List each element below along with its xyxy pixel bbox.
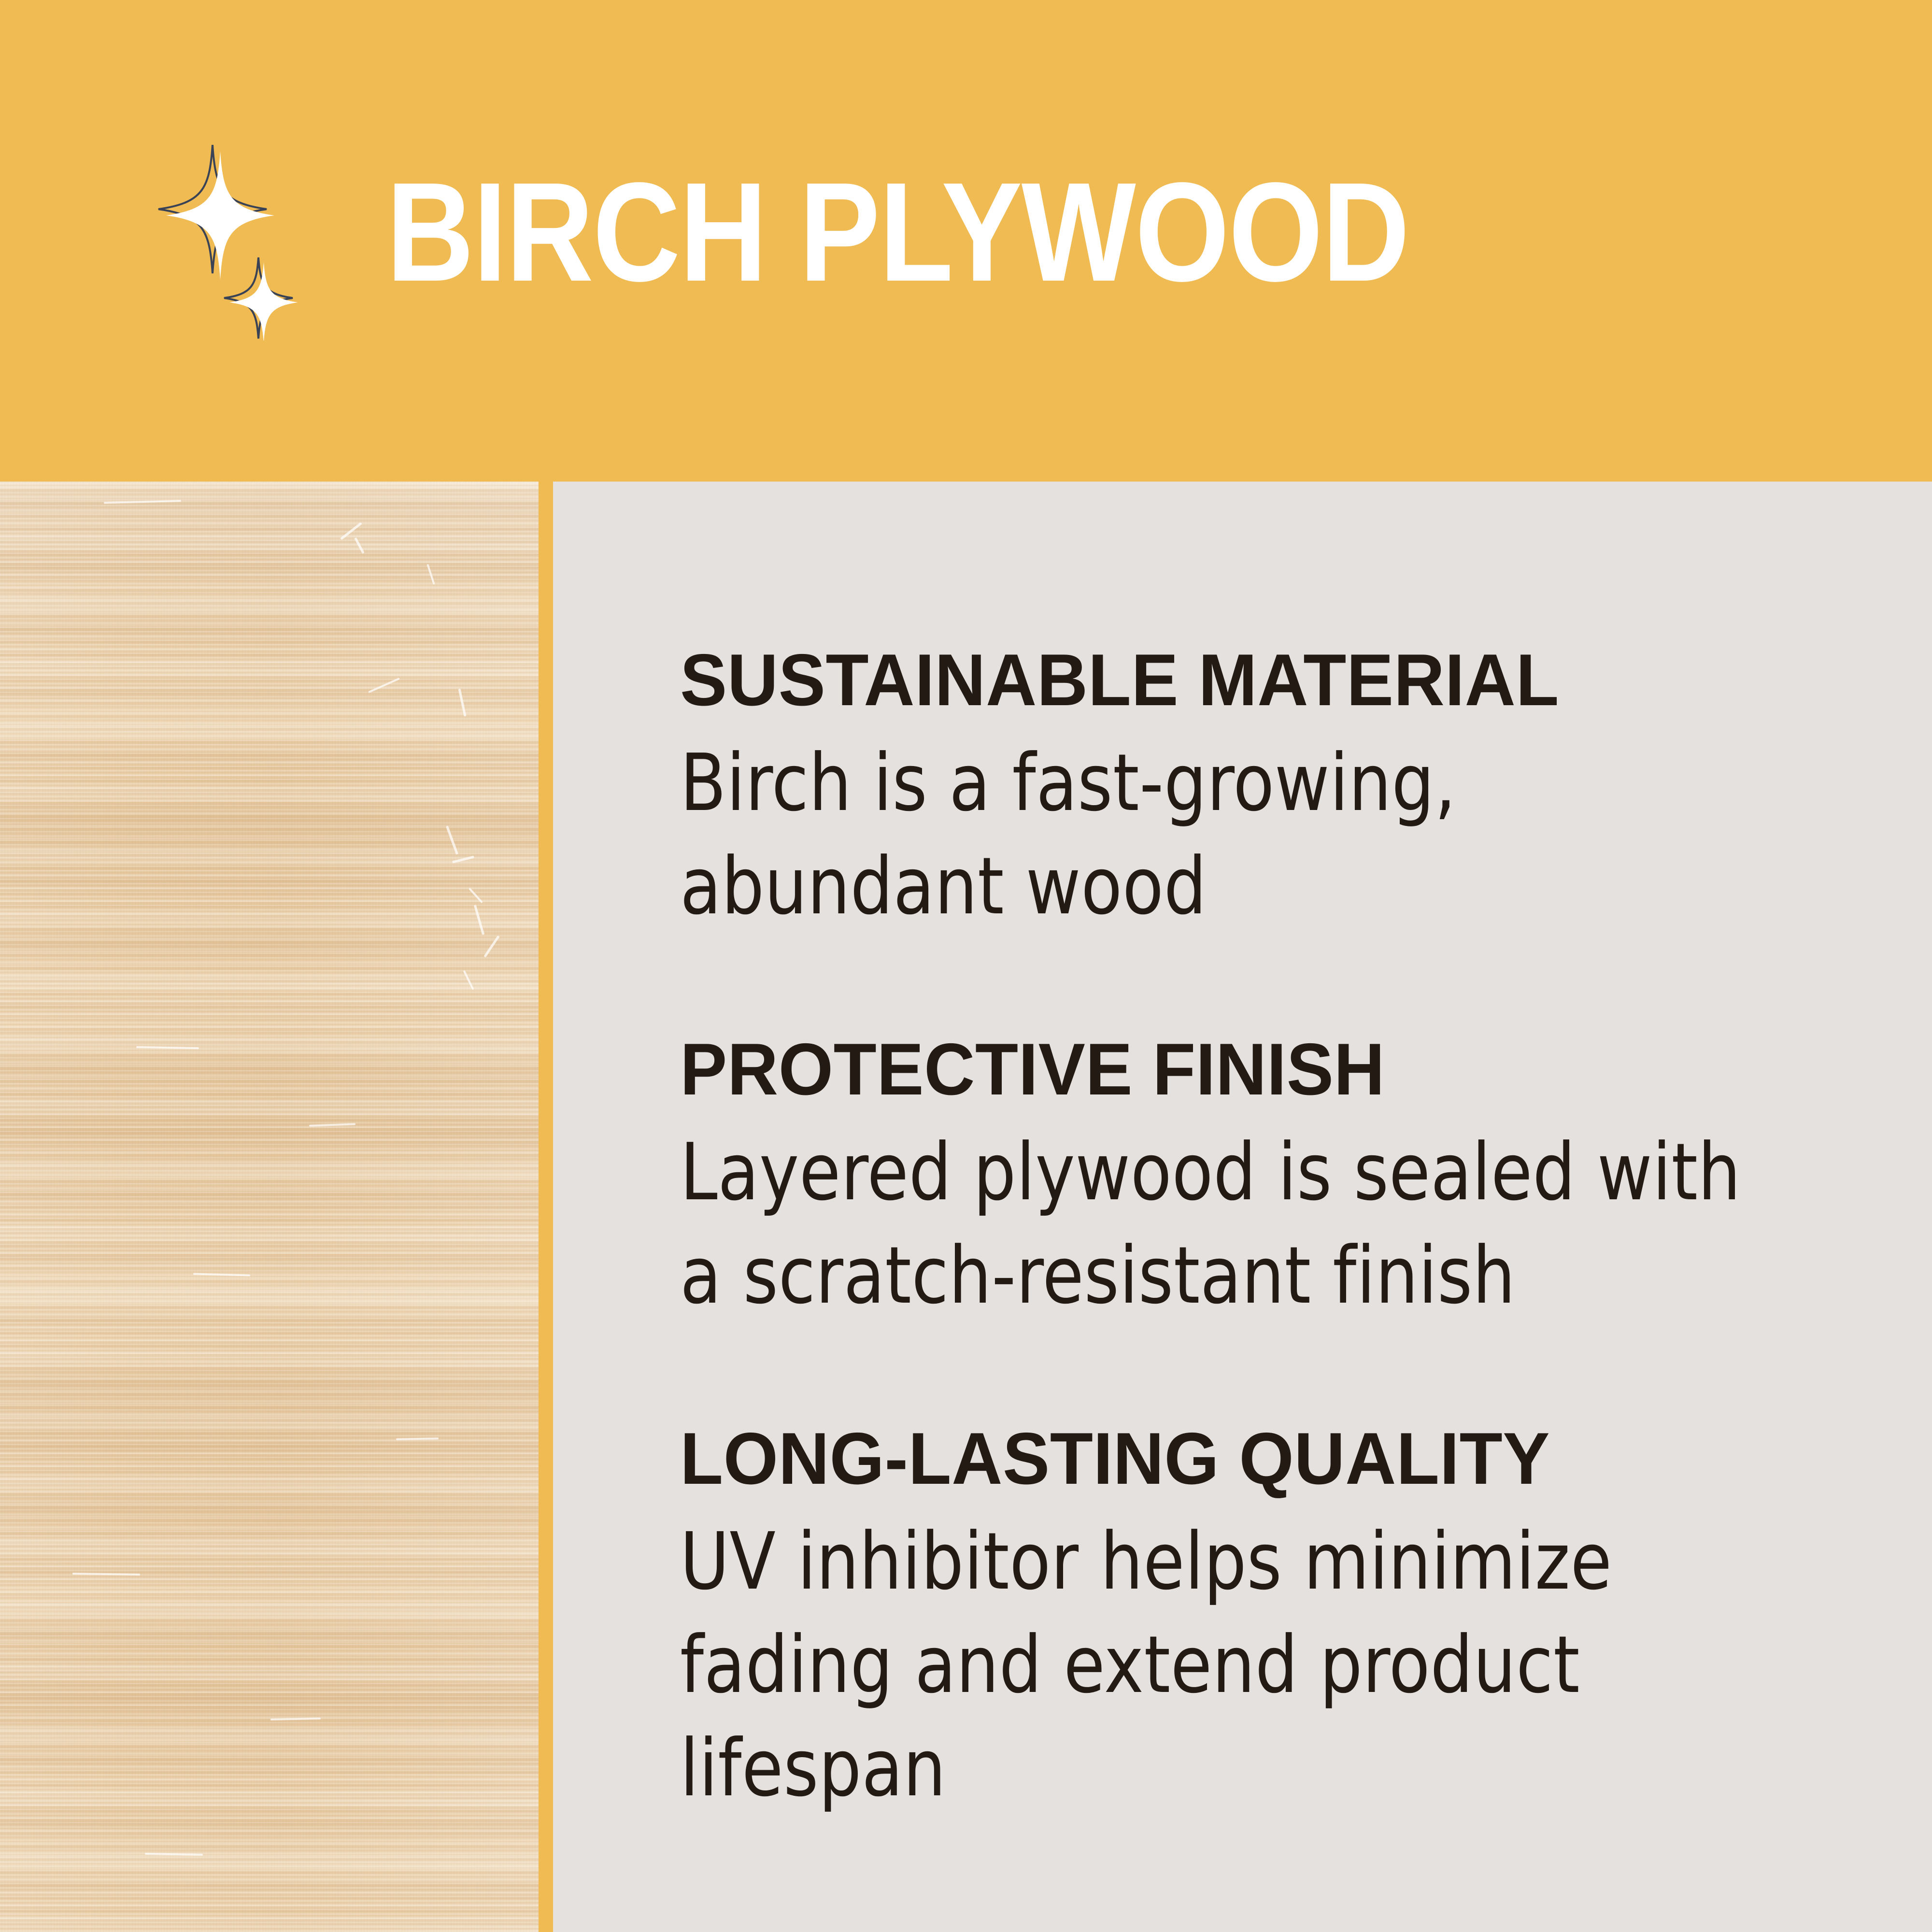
accent-divider-stripe [539, 482, 553, 1932]
feature-list: SUSTAINABLE MATERIAL Birch is a fast-gro… [680, 641, 1907, 1820]
header-banner: BIRCH PLYWOOD [0, 0, 1932, 482]
page-title: BIRCH PLYWOOD [386, 159, 1508, 319]
feature-title: SUSTAINABLE MATERIAL [680, 641, 1858, 719]
feature-description: Layered plywood is sealed with a scratch… [680, 1121, 1846, 1328]
feature-item: SUSTAINABLE MATERIAL Birch is a fast-gro… [680, 641, 1907, 938]
wood-texture-panel [0, 482, 539, 1932]
product-feature-poster: BIRCH PLYWOOD SUSTAIN [0, 0, 1932, 1932]
feature-item: LONG-LASTING QUALITY UV inhibitor helps … [680, 1420, 1907, 1820]
wood-fiber-layer [0, 482, 539, 1932]
feature-title: PROTECTIVE FINISH [680, 1030, 1858, 1108]
sparkle-icon-small [229, 262, 298, 341]
features-panel: SUSTAINABLE MATERIAL Birch is a fast-gro… [553, 482, 1932, 1932]
feature-description: UV inhibitor helps minimize fading and e… [680, 1510, 1846, 1820]
feature-item: PROTECTIVE FINISH Layered plywood is sea… [680, 1030, 1907, 1328]
sparkle-cluster [155, 138, 309, 341]
feature-title: LONG-LASTING QUALITY [680, 1420, 1858, 1498]
feature-description: Birch is a fast-growing, abundant wood [680, 732, 1846, 938]
